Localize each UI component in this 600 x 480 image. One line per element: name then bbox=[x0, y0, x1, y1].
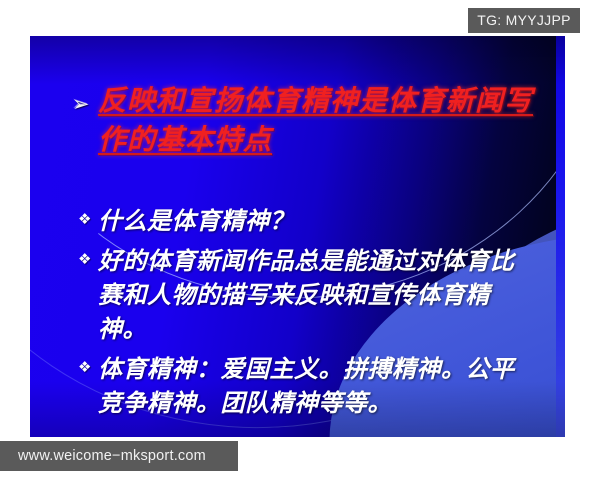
slide-content: ➢ 反映和宣扬体育精神是体育新闻写作的基本特点 ❖ 什么是体育精神？ ❖ 好的体… bbox=[30, 36, 565, 437]
arrow-bullet-icon: ➢ bbox=[72, 94, 98, 115]
diamond-bullet-icon: ❖ bbox=[78, 360, 98, 375]
url-watermark-badge: www.weicome−mksport.com bbox=[0, 441, 238, 471]
screenshot-root: ➢ 反映和宣扬体育精神是体育新闻写作的基本特点 ❖ 什么是体育精神？ ❖ 好的体… bbox=[0, 0, 600, 480]
bullet-item-1: ❖ 什么是体育精神？ bbox=[78, 204, 530, 238]
slide-title-row: ➢ 反映和宣扬体育精神是体育新闻写作的基本特点 bbox=[72, 82, 542, 159]
bullet-item-2-text: 好的体育新闻作品总是能通过对体育比赛和人物的描写来反映和宣传体育精神。 bbox=[98, 244, 530, 346]
slide-title-text: 反映和宣扬体育精神是体育新闻写作的基本特点 bbox=[98, 82, 542, 159]
slide-title-block: ➢ 反映和宣扬体育精神是体育新闻写作的基本特点 bbox=[72, 82, 542, 159]
diamond-bullet-icon: ❖ bbox=[78, 212, 98, 227]
slide-bullet-list: ❖ 什么是体育精神？ ❖ 好的体育新闻作品总是能通过对体育比赛和人物的描写来反映… bbox=[78, 204, 530, 426]
diamond-bullet-icon: ❖ bbox=[78, 252, 98, 267]
bullet-item-1-text: 什么是体育精神？ bbox=[98, 204, 294, 238]
bullet-item-2: ❖ 好的体育新闻作品总是能通过对体育比赛和人物的描写来反映和宣传体育精神。 bbox=[78, 244, 530, 346]
presentation-slide: ➢ 反映和宣扬体育精神是体育新闻写作的基本特点 ❖ 什么是体育精神？ ❖ 好的体… bbox=[30, 36, 565, 437]
tag-watermark-badge: TG: MYYJJPP bbox=[468, 8, 580, 33]
bullet-item-3: ❖ 体育精神：爱国主义。拼搏精神。公平竞争精神。团队精神等等。 bbox=[78, 352, 530, 420]
bullet-item-3-text: 体育精神：爱国主义。拼搏精神。公平竞争精神。团队精神等等。 bbox=[98, 352, 530, 420]
